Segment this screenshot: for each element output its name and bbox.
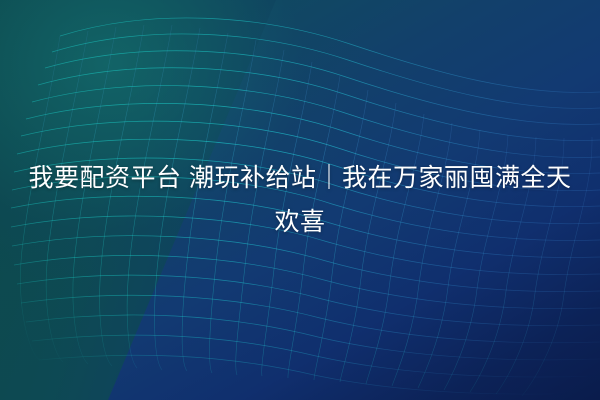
caption-text: 我要配资平台 潮玩补给站｜我在万家丽囤满全天欢喜 bbox=[20, 156, 580, 244]
banner-image: 我要配资平台 潮玩补给站｜我在万家丽囤满全天欢喜 bbox=[0, 0, 600, 400]
caption-overlay: 我要配资平台 潮玩补给站｜我在万家丽囤满全天欢喜 bbox=[0, 0, 600, 400]
